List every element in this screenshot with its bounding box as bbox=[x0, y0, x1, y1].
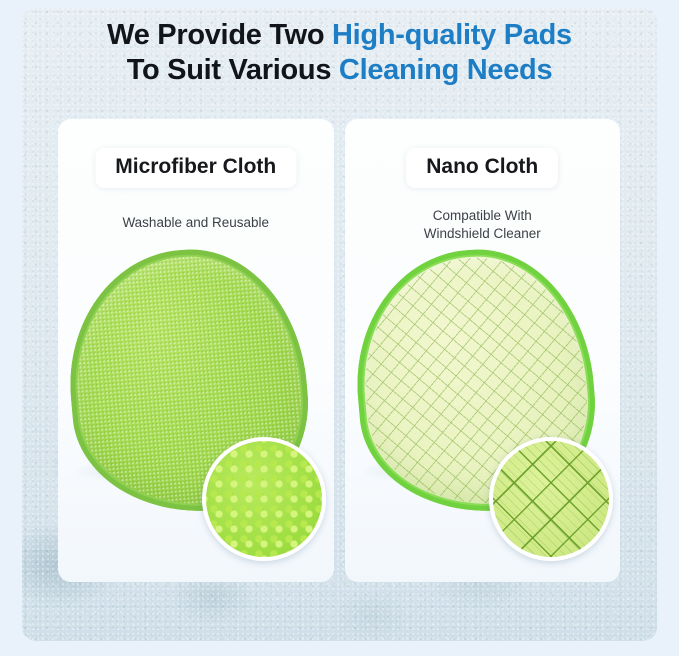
headline-line-2-dark: To Suit Various bbox=[127, 54, 339, 86]
headline-line-2-accent: Cleaning Needs bbox=[339, 54, 552, 86]
headline-line-1-accent: High-quality Pads bbox=[332, 19, 572, 51]
card-microfiber-cloth: Microfiber Cloth Washable and Reusable bbox=[58, 119, 334, 582]
nano-texture-closeup-icon bbox=[489, 437, 613, 561]
infographic-page: We Provide Two High-quality Pads To Suit… bbox=[0, 0, 679, 656]
card-title-microfiber: Microfiber Cloth bbox=[95, 148, 296, 188]
product-cards: Microfiber Cloth Washable and Reusable N… bbox=[58, 119, 620, 582]
card-subtitle-microfiber: Washable and Reusable bbox=[58, 214, 334, 232]
page-title: We Provide Two High-quality Pads To Suit… bbox=[0, 18, 679, 88]
microfiber-nubs-texture bbox=[202, 437, 326, 561]
nano-lattice-texture bbox=[489, 437, 613, 561]
headline-line-1: We Provide Two High-quality Pads bbox=[0, 18, 679, 53]
headline-line-1-dark: We Provide Two bbox=[107, 19, 332, 51]
card-subtitle-nano-line-1: Compatible With bbox=[345, 207, 621, 225]
microfiber-pad-illustration bbox=[58, 242, 334, 582]
nano-pad-illustration bbox=[345, 242, 621, 582]
card-nano-cloth: Nano Cloth Compatible With Windshield Cl… bbox=[345, 119, 621, 582]
card-title-nano: Nano Cloth bbox=[406, 148, 558, 188]
headline-line-2: To Suit Various Cleaning Needs bbox=[0, 53, 679, 88]
microfiber-texture-closeup-icon bbox=[202, 437, 326, 561]
card-subtitle-nano: Compatible With Windshield Cleaner bbox=[345, 207, 621, 243]
card-subtitle-nano-line-2: Windshield Cleaner bbox=[345, 225, 621, 243]
